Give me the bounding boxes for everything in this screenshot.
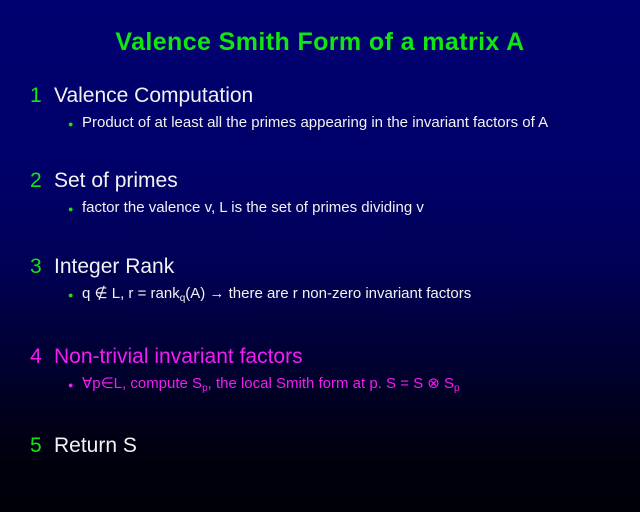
item-number: 2 <box>30 169 54 193</box>
page-title: Valence Smith Form of a matrix A <box>0 28 640 57</box>
item-bullet: ∀p∈L, compute Sp, the local Smith form a… <box>30 374 630 395</box>
item-heading: 4 Non-trivial invariant factors <box>30 345 630 369</box>
item-title: Integer Rank <box>54 255 174 279</box>
item-bullet: q ∉ L, r = rankq(A) → there are r non-ze… <box>30 284 630 305</box>
bullet-text: Product of at least all the primes appea… <box>82 113 548 132</box>
bullet-dot-icon <box>68 113 82 134</box>
bullet-dot-icon <box>68 284 82 305</box>
bullet-text-main: Product of at least all the primes appea… <box>82 114 548 131</box>
bullet-dot-icon <box>68 374 82 395</box>
item-heading: 3 Integer Rank <box>30 255 630 279</box>
presentation-slide: Valence Smith Form of a matrix A 1 Valen… <box>0 0 640 512</box>
item-bullet: Product of at least all the primes appea… <box>30 113 630 134</box>
list-item: 1 Valence Computation Product of at leas… <box>30 84 630 134</box>
list-item: 5 Return S <box>30 434 630 458</box>
bullet-dot-icon <box>68 198 82 219</box>
bullet-text-tail: (A) → there are r non-zero invariant fac… <box>185 285 471 302</box>
item-heading: 1 Valence Computation <box>30 84 630 108</box>
bullet-subscript-2: p <box>454 383 460 394</box>
bullet-text: q ∉ L, r = rankq(A) → there are r non-ze… <box>82 284 471 303</box>
bullet-text-main: factor the valence v, L is the set of pr… <box>82 199 424 216</box>
bullet-subscript: q <box>180 293 186 304</box>
list-item: 4 Non-trivial invariant factors ∀p∈L, co… <box>30 345 630 395</box>
bullet-text-main: q ∉ L, r = rank <box>82 285 180 302</box>
bullet-text-tail: , the local Smith form at p. S = S ⊗ S <box>208 375 454 392</box>
item-title: Non-trivial invariant factors <box>54 345 303 369</box>
item-number: 5 <box>30 434 54 458</box>
bullet-text: ∀p∈L, compute Sp, the local Smith form a… <box>82 374 460 393</box>
bullet-text: factor the valence v, L is the set of pr… <box>82 198 424 217</box>
bullet-subscript: p <box>202 383 208 394</box>
item-number: 4 <box>30 345 54 369</box>
list-item: 3 Integer Rank q ∉ L, r = rankq(A) → the… <box>30 255 630 305</box>
list-item: 2 Set of primes factor the valence v, L … <box>30 169 630 219</box>
item-title: Return S <box>54 434 137 458</box>
item-heading: 2 Set of primes <box>30 169 630 193</box>
item-bullet: factor the valence v, L is the set of pr… <box>30 198 630 219</box>
item-title: Set of primes <box>54 169 178 193</box>
item-title: Valence Computation <box>54 84 253 108</box>
bullet-text-main: ∀p∈L, compute S <box>82 375 202 392</box>
item-number: 3 <box>30 255 54 279</box>
item-number: 1 <box>30 84 54 108</box>
item-heading: 5 Return S <box>30 434 630 458</box>
